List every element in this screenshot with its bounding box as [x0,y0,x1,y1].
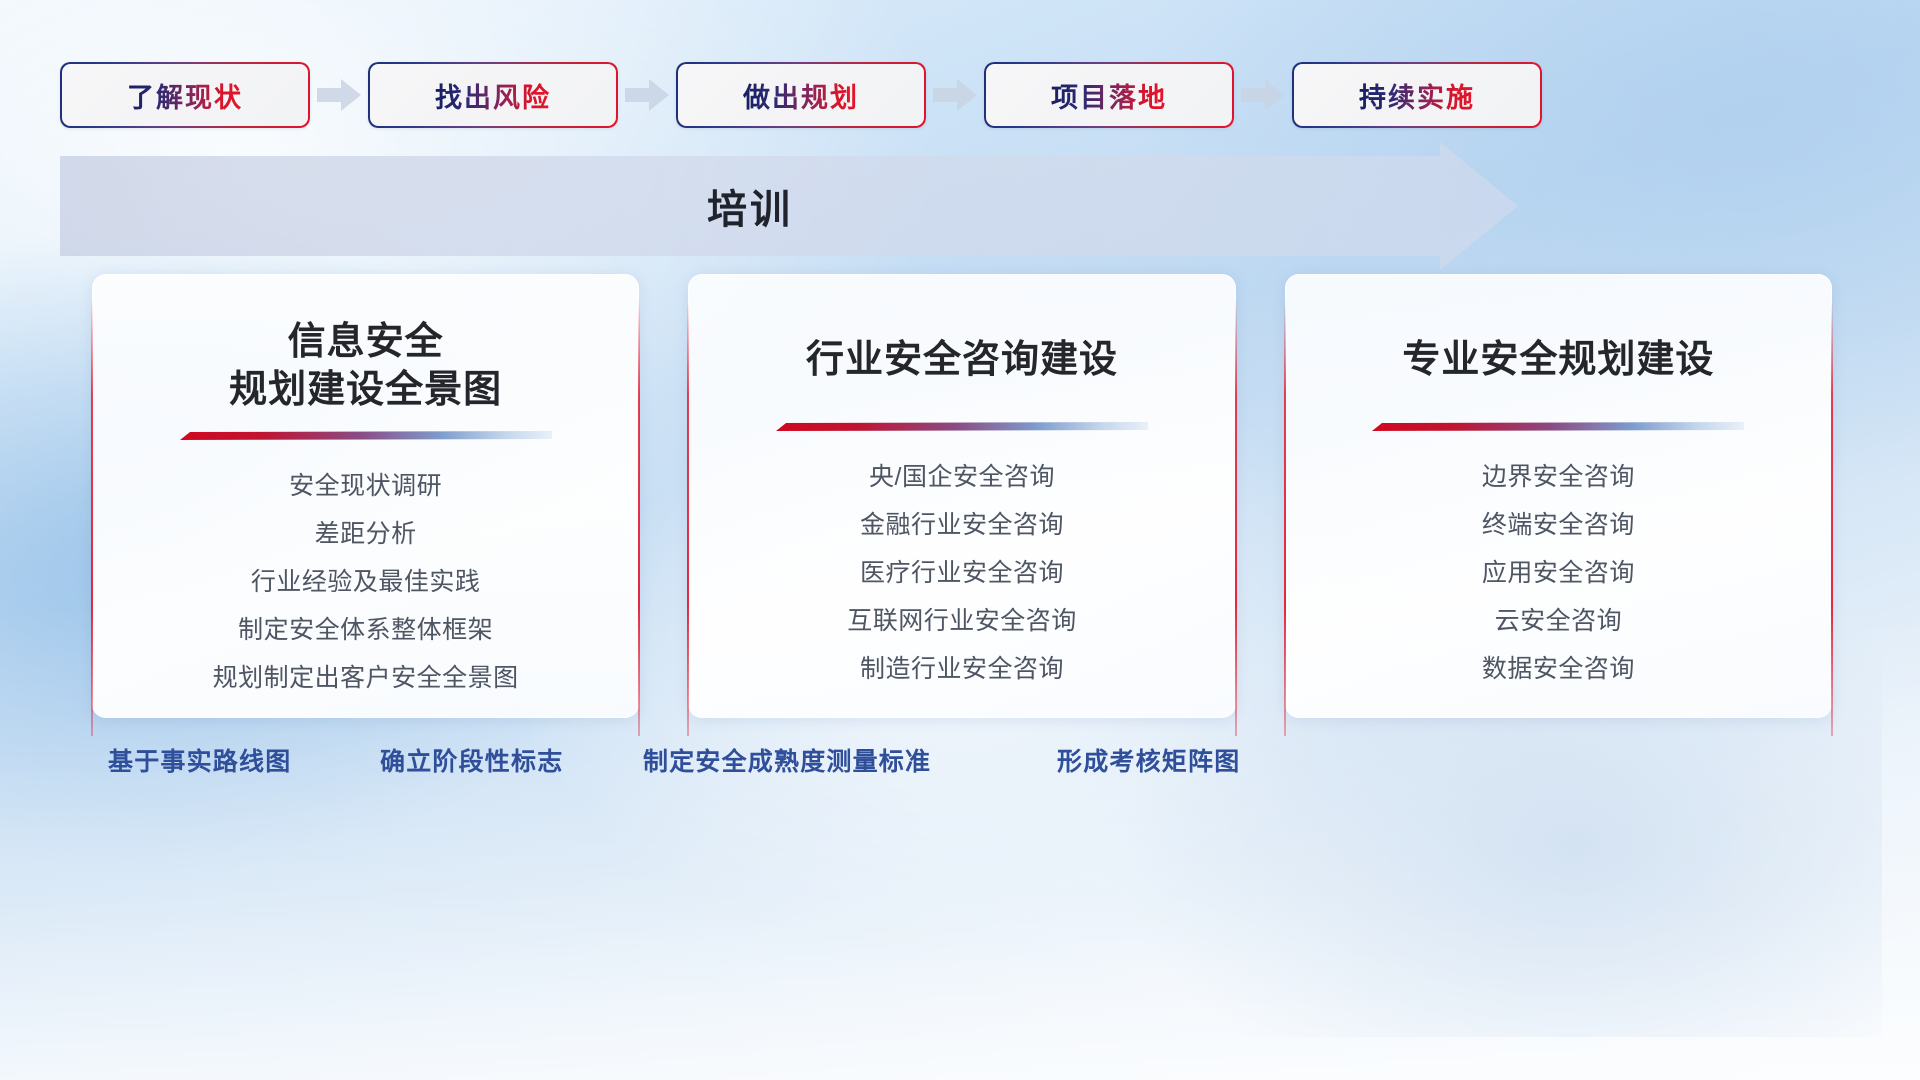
arrow-right-icon [618,62,676,128]
list-item: 云安全咨询 [1495,601,1623,642]
arrow-right-icon [310,62,368,128]
process-step-label: 了解现状 [127,76,243,115]
process-step-1[interactable]: 了解现状 [60,62,310,128]
list-item: 安全现状调研 [289,466,442,507]
process-step-label: 找出风险 [435,76,551,115]
process-step-4[interactable]: 项目落地 [984,62,1234,128]
training-banner: 培训 [60,156,1515,256]
card-title-line: 信息安全 [229,318,502,366]
process-step-label: 持续实施 [1359,76,1475,115]
card-title: 信息安全 规划建设全景图 [229,318,502,415]
card-item-list: 边界安全咨询 终端安全咨询 应用安全咨询 云安全咨询 数据安全咨询 [1482,457,1635,690]
banner-title: 培训 [60,156,1440,256]
process-step-2[interactable]: 找出风险 [368,62,618,128]
list-item: 终端安全咨询 [1482,505,1635,546]
card-title: 专业安全规划建设 [1402,336,1714,384]
process-step-3[interactable]: 做出规划 [676,62,926,128]
footer-labels: 基于事实路线图 确立阶段性标志 制定安全成熟度测量标准 形成考核矩阵图 [0,742,1920,798]
card-item-list: 安全现状调研 差距分析 行业经验及最佳实践 制定安全体系整体框架 规划制定出客户… [213,466,519,699]
banner-arrowhead-icon [1440,142,1518,270]
list-item: 行业经验及最佳实践 [251,562,481,603]
card-title: 行业安全咨询建设 [806,336,1118,384]
list-item: 医疗行业安全咨询 [860,553,1064,594]
list-item: 金融行业安全咨询 [860,505,1064,546]
list-item: 数据安全咨询 [1482,649,1635,690]
list-item: 央/国企安全咨询 [869,457,1055,498]
card-title-line: 专业安全规划建设 [1402,336,1714,384]
card-professional-security-planning[interactable]: 专业安全规划建设 [1285,274,1832,718]
card-item-list: 央/国企安全咨询 金融行业安全咨询 医疗行业安全咨询 互联网行业安全咨询 制造行… [847,457,1077,690]
card-group: 信息安全 规划建设全景图 [92,274,1832,718]
card-divider-icon [1372,422,1744,433]
list-item: 互联网行业安全咨询 [847,601,1077,642]
list-item: 制定安全体系整体框架 [238,610,493,651]
arrow-right-icon [926,62,984,128]
card-title-line: 规划建设全景图 [229,366,502,414]
process-step-5[interactable]: 持续实施 [1292,62,1542,128]
list-item: 边界安全咨询 [1482,457,1635,498]
card-title-line: 行业安全咨询建设 [806,336,1118,384]
footer-label-maturity: 制定安全成熟度测量标准 [643,742,931,778]
card-industry-security-consulting[interactable]: 行业安全咨询建设 [688,274,1235,718]
process-step-label: 做出规划 [743,76,859,115]
footer-label-milestones: 确立阶段性标志 [380,742,563,778]
arrow-right-icon [1234,62,1292,128]
list-item: 制造行业安全咨询 [860,649,1064,690]
card-information-security[interactable]: 信息安全 规划建设全景图 [92,274,639,718]
card-divider-icon [776,422,1148,433]
process-steps: 了解现状 找出风险 做出规划 项目落地 持续实施 [60,62,1860,128]
list-item: 规划制定出客户安全全景图 [213,658,519,699]
footer-label-roadmap: 基于事实路线图 [108,742,291,778]
footer-label-matrix: 形成考核矩阵图 [1057,742,1240,778]
card-divider-icon [180,431,552,442]
list-item: 应用安全咨询 [1482,553,1635,594]
process-step-label: 项目落地 [1051,76,1167,115]
list-item: 差距分析 [315,514,417,555]
